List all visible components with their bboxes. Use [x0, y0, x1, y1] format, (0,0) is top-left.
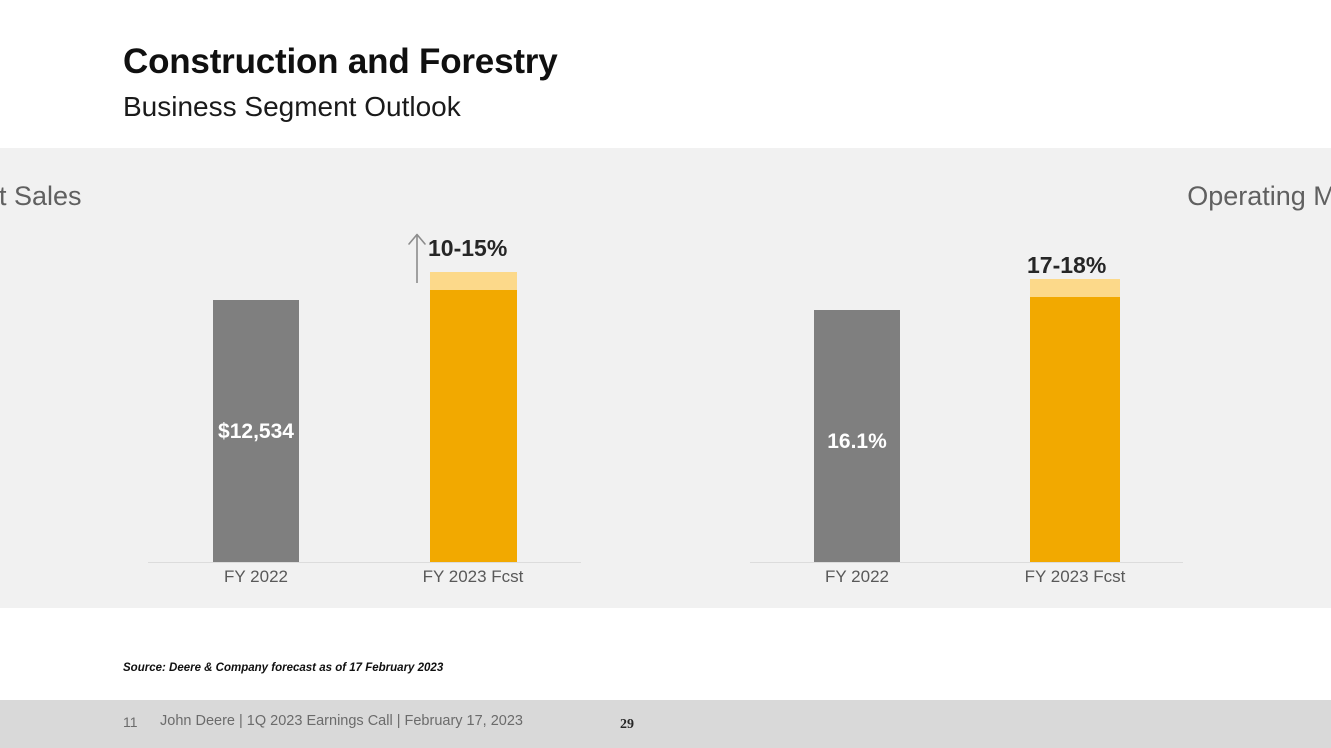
bar-column-fy2022[interactable]: $12,534	[213, 300, 299, 562]
bar-value-label: $12,534	[213, 420, 299, 444]
up-arrow-icon	[404, 232, 430, 284]
footer-text: John Deere | 1Q 2023 Earnings Call | Feb…	[160, 713, 523, 729]
category-label-fy2022: FY 2022	[777, 567, 937, 587]
bar-value-label: 16.1%	[814, 430, 900, 454]
bar-forecast-range-cap	[430, 272, 517, 290]
footer-slide-number: 29	[620, 717, 634, 733]
chart-net-sales: Net Sales $12,534 10-15%	[0, 148, 680, 608]
category-label-fy2022: FY 2022	[176, 567, 336, 587]
source-note: Source: Deere & Company forecast as of 1…	[123, 662, 443, 674]
forecast-range-label: 10-15%	[428, 235, 507, 262]
charts-panel: Net Sales $12,534 10-15%	[0, 148, 1331, 608]
page-subtitle: Business Segment Outlook	[123, 92, 461, 123]
bar-column-fy2022[interactable]: 16.1%	[814, 310, 900, 562]
footer-page-number: 11	[123, 714, 138, 730]
category-label-fy2023-fcst: FY 2023 Fcst	[995, 567, 1155, 587]
chart-operating-margin: Operating Margin 16.1% 17-18% FY 2022 FY…	[680, 148, 1331, 608]
page-title: Construction and Forestry	[123, 44, 557, 81]
forecast-range-label: 17-18%	[1027, 252, 1106, 279]
bar-forecast	[430, 272, 517, 562]
bar-column-fy2023-fcst[interactable]	[430, 272, 517, 562]
chart-axis-line	[148, 562, 581, 563]
chart-axis-line	[750, 562, 1183, 563]
bar-forecast-range-cap	[1030, 279, 1120, 297]
chart-title-operating-margin: Operating Margin	[966, 181, 1331, 212]
bar-column-fy2023-fcst[interactable]	[1030, 279, 1120, 562]
chart-title-net-sales: Net Sales	[0, 181, 363, 212]
category-label-fy2023-fcst: FY 2023 Fcst	[393, 567, 553, 587]
slide: Construction and Forestry Business Segme…	[0, 0, 1331, 748]
bar-forecast	[1030, 279, 1120, 562]
